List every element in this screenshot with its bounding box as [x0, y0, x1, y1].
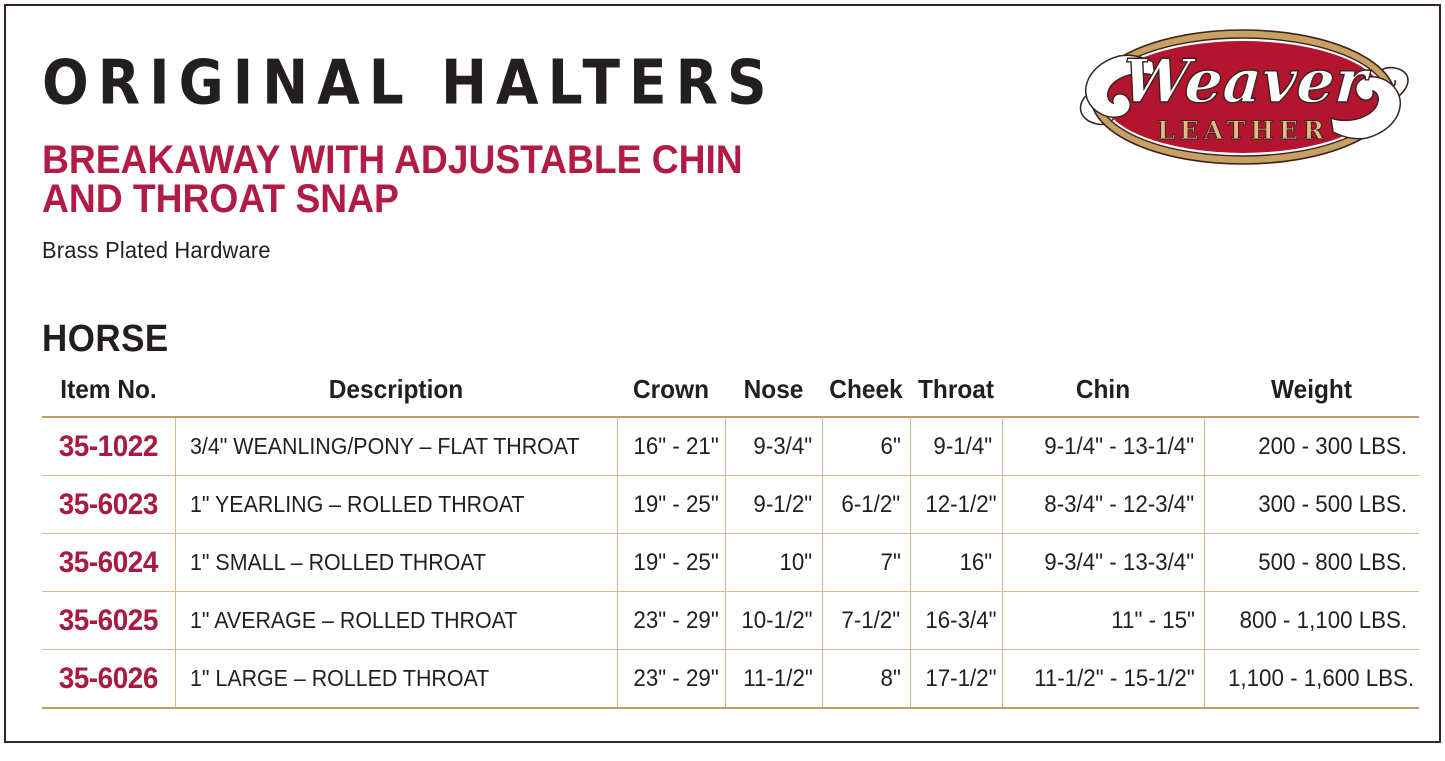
cell-throat-text: 17-1/2" — [925, 665, 996, 693]
logo-subbrand-text: LEATHER — [1157, 116, 1329, 145]
cell-nose-text: 10-1/2" — [741, 607, 812, 635]
header-block: ORIGINAL HALTERS BREAKAWAY WITH ADJUSTAB… — [42, 52, 942, 264]
page-subtitle: BREAKAWAY WITH ADJUSTABLE CHIN AND THROA… — [42, 141, 879, 219]
cell-chin: 9-1/4" - 13-1/4" — [1002, 417, 1204, 476]
cell-chin-text: 11" - 15" — [1111, 607, 1195, 635]
cell-item-no: 35-6023 — [42, 476, 175, 534]
cell-nose: 10-1/2" — [725, 592, 822, 650]
cell-description-text: 1" YEARLING – ROLLED THROAT — [190, 491, 524, 518]
cell-crown-text: 23" - 29" — [633, 665, 718, 693]
cell-throat: 9-1/4" — [910, 417, 1002, 476]
cell-throat: 17-1/2" — [910, 650, 1002, 709]
cell-weight-text: 800 - 1,100 LBS. — [1239, 607, 1407, 635]
column-header-cheek: Cheek — [825, 374, 908, 417]
cell-description: 3/4" WEANLING/PONY – FLAT THROAT — [175, 417, 617, 476]
cell-description-text: 1" AVERAGE – ROLLED THROAT — [190, 607, 517, 634]
cell-item-no: 35-6026 — [42, 650, 175, 709]
cell-chin-text: 9-1/4" - 13-1/4" — [1045, 433, 1195, 461]
catalog-page: ORIGINAL HALTERS BREAKAWAY WITH ADJUSTAB… — [0, 0, 1445, 761]
cell-nose-text: 11-1/2" — [743, 665, 813, 693]
cell-crown-text: 23" - 29" — [633, 607, 718, 635]
table-header-row: Item No. Description Crown Nose Cheek Th… — [42, 374, 1419, 417]
cell-weight: 500 - 800 LBS. — [1204, 534, 1419, 592]
cell-item-no-text: 35-6026 — [59, 662, 158, 696]
hardware-note: Brass Plated Hardware — [42, 237, 897, 264]
cell-description-text: 1" SMALL – ROLLED THROAT — [190, 549, 486, 576]
cell-weight: 200 - 300 LBS. — [1204, 417, 1419, 476]
cell-chin: 11" - 15" — [1002, 592, 1204, 650]
cell-throat: 16-3/4" — [910, 592, 1002, 650]
cell-crown: 16" - 21" — [617, 417, 725, 476]
cell-throat: 12-1/2" — [910, 476, 1002, 534]
cell-crown: 19" - 25" — [617, 534, 725, 592]
cell-cheek: 6-1/2" — [822, 476, 910, 534]
column-header-chin: Chin — [1008, 374, 1198, 417]
cell-cheek: 7" — [822, 534, 910, 592]
cell-nose: 11-1/2" — [725, 650, 822, 709]
cell-cheek-text: 7-1/2" — [842, 607, 901, 635]
cell-item-no-text: 35-6025 — [59, 604, 158, 638]
cell-crown: 23" - 29" — [617, 650, 725, 709]
cell-description: 1" AVERAGE – ROLLED THROAT — [175, 592, 617, 650]
cell-description: 1" LARGE – ROLLED THROAT — [175, 650, 617, 709]
cell-item-no: 35-6025 — [42, 592, 175, 650]
cell-crown-text: 19" - 25" — [633, 491, 718, 519]
cell-description-text: 1" LARGE – ROLLED THROAT — [190, 665, 489, 692]
spec-table-wrapper: Item No. Description Crown Nose Cheek Th… — [42, 374, 1419, 709]
column-header-weight: Weight — [1210, 374, 1412, 417]
cell-cheek: 7-1/2" — [822, 592, 910, 650]
cell-item-no-text: 35-6024 — [59, 546, 158, 580]
cell-weight-text: 200 - 300 LBS. — [1258, 433, 1407, 461]
cell-cheek: 6" — [822, 417, 910, 476]
logo-graphic: Weaver LEATHER — [1067, 16, 1419, 178]
column-header-item-no: Item No. — [46, 374, 171, 417]
cell-cheek-text: 6-1/2" — [842, 491, 901, 519]
cell-weight-text: 1,100 - 1,600 LBS. — [1228, 665, 1414, 693]
cell-nose-text: 9-1/2" — [754, 491, 813, 519]
cell-weight-text: 300 - 500 LBS. — [1258, 491, 1407, 519]
table-row: 35-60241" SMALL – ROLLED THROAT19" - 25"… — [42, 534, 1419, 592]
cell-chin: 11-1/2" - 15-1/2" — [1002, 650, 1204, 709]
cell-weight: 300 - 500 LBS. — [1204, 476, 1419, 534]
column-header-nose: Nose — [728, 374, 819, 417]
cell-throat-text: 12-1/2" — [925, 491, 996, 519]
table-row: 35-60261" LARGE – ROLLED THROAT23" - 29"… — [42, 650, 1419, 709]
column-header-crown: Crown — [620, 374, 722, 417]
cell-nose: 10" — [725, 534, 822, 592]
cell-weight: 800 - 1,100 LBS. — [1204, 592, 1419, 650]
cell-item-no-text: 35-1022 — [59, 430, 158, 464]
cell-description: 1" SMALL – ROLLED THROAT — [175, 534, 617, 592]
cell-chin-text: 9-3/4" - 13-3/4" — [1045, 549, 1195, 577]
cell-weight-text: 500 - 800 LBS. — [1258, 549, 1407, 577]
column-header-throat: Throat — [913, 374, 999, 417]
cell-throat-text: 16" — [960, 549, 993, 577]
table-row: 35-10223/4" WEANLING/PONY – FLAT THROAT1… — [42, 417, 1419, 476]
cell-item-no: 35-1022 — [42, 417, 175, 476]
cell-throat: 16" — [910, 534, 1002, 592]
cell-nose: 9-1/2" — [725, 476, 822, 534]
cell-description-text: 3/4" WEANLING/PONY – FLAT THROAT — [190, 433, 580, 460]
cell-throat-text: 16-3/4" — [925, 607, 996, 635]
cell-crown-text: 16" - 21" — [633, 433, 718, 461]
cell-crown: 23" - 29" — [617, 592, 725, 650]
size-group-title: HORSE — [42, 318, 169, 361]
cell-cheek: 8" — [822, 650, 910, 709]
cell-chin: 9-3/4" - 13-3/4" — [1002, 534, 1204, 592]
cell-throat-text: 9-1/4" — [934, 433, 993, 461]
page-title: ORIGINAL HALTERS — [42, 52, 942, 114]
cell-item-no: 35-6024 — [42, 534, 175, 592]
cell-nose-text: 10" — [780, 549, 813, 577]
table-row: 35-60231" YEARLING – ROLLED THROAT19" - … — [42, 476, 1419, 534]
cell-cheek-text: 8" — [880, 665, 900, 693]
cell-nose: 9-3/4" — [725, 417, 822, 476]
cell-chin-text: 8-3/4" - 12-3/4" — [1045, 491, 1195, 519]
cell-item-no-text: 35-6023 — [59, 488, 158, 522]
spec-table: Item No. Description Crown Nose Cheek Th… — [42, 374, 1419, 709]
logo-brand-text: Weaver — [1120, 47, 1373, 117]
page-content: ORIGINAL HALTERS BREAKAWAY WITH ADJUSTAB… — [42, 0, 1419, 761]
cell-nose-text: 9-3/4" — [754, 433, 813, 461]
cell-weight: 1,100 - 1,600 LBS. — [1204, 650, 1419, 709]
weaver-leather-logo: Weaver LEATHER — [1067, 16, 1419, 178]
cell-chin-text: 11-1/2" - 15-1/2" — [1034, 665, 1195, 693]
cell-crown-text: 19" - 25" — [633, 549, 718, 577]
cell-chin: 8-3/4" - 12-3/4" — [1002, 476, 1204, 534]
table-row: 35-60251" AVERAGE – ROLLED THROAT23" - 2… — [42, 592, 1419, 650]
cell-cheek-text: 7" — [880, 549, 900, 577]
spec-table-head: Item No. Description Crown Nose Cheek Th… — [42, 374, 1419, 417]
cell-cheek-text: 6" — [880, 433, 900, 461]
column-header-description: Description — [188, 374, 603, 417]
cell-description: 1" YEARLING – ROLLED THROAT — [175, 476, 617, 534]
cell-crown: 19" - 25" — [617, 476, 725, 534]
spec-table-body: 35-10223/4" WEANLING/PONY – FLAT THROAT1… — [42, 417, 1419, 708]
